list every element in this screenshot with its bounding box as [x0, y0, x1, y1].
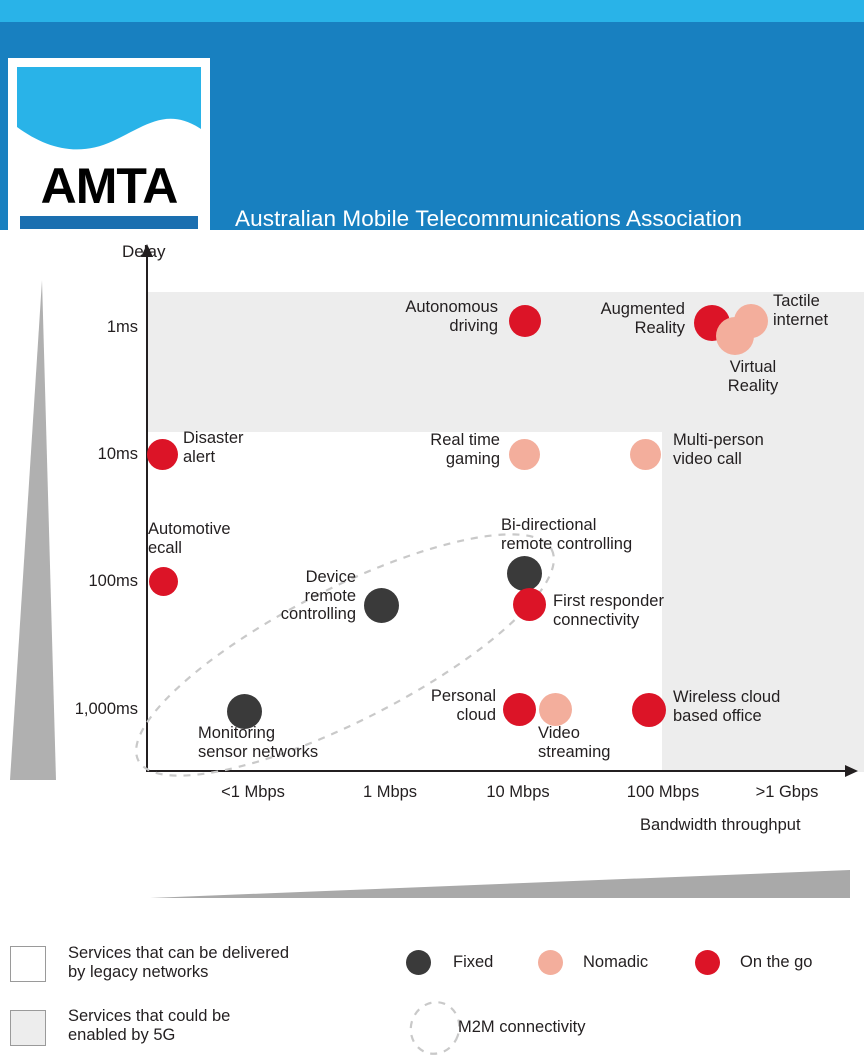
bandwidth-magnitude-wedge — [150, 860, 850, 900]
chart-legend: Services that can be delivered by legacy… — [0, 930, 864, 1050]
point-first-responder-connectivity[interactable] — [513, 588, 546, 621]
amta-logo: AMTA — [8, 58, 210, 244]
point-label-tactile-internet: Tactile internet — [773, 292, 828, 329]
point-label-disaster-alert: Disaster alert — [183, 429, 244, 466]
point-automotive-ecall[interactable] — [149, 567, 178, 596]
top-accent-strip — [0, 0, 864, 22]
point-label-real-time-gaming: Real time gaming — [430, 431, 500, 468]
point-label-personal-cloud: Personal cloud — [431, 687, 496, 724]
legend-label-on-the-go: On the go — [740, 953, 812, 972]
legend-label-nomadic: Nomadic — [583, 953, 648, 972]
point-personal-cloud[interactable] — [503, 693, 536, 726]
point-bi-directional-remote-controlling[interactable] — [507, 556, 542, 591]
logo-wordmark: AMTA — [17, 161, 201, 211]
point-video-streaming[interactable] — [539, 693, 572, 726]
point-label-augmented-reality: Augmented Reality — [601, 300, 685, 337]
association-title: Australian Mobile Telecommunications Ass… — [235, 206, 742, 232]
legend-label-legacy: Services that can be delivered by legacy… — [68, 944, 289, 983]
point-label-monitoring-sensor-networks: Monitoring sensor networks — [198, 724, 318, 761]
legend-swatch-legacy — [10, 946, 46, 982]
legend-label-5g: Services that could be enabled by 5G — [68, 1007, 230, 1046]
logo-underbar — [20, 216, 198, 229]
legend-dot-on-the-go — [695, 950, 720, 975]
logo-wave-icon — [17, 67, 201, 167]
legend-dot-nomadic — [538, 950, 563, 975]
legend-swatch-5g — [10, 1010, 46, 1046]
point-label-video-streaming: Video streaming — [538, 724, 610, 761]
site-header: AMTA Australian Mobile Telecommunication… — [0, 22, 864, 230]
point-label-multi-person-video-call: Multi-person video call — [673, 431, 764, 468]
legend-label-fixed: Fixed — [453, 953, 493, 972]
delay-magnitude-wedge — [0, 280, 60, 780]
point-label-device-remote-controlling: Device remote controlling — [281, 568, 356, 624]
point-autonomous-driving[interactable] — [509, 305, 541, 337]
delay-bandwidth-scatter-chart: Delay Bandwidth throughput 1ms 10ms 100m… — [0, 230, 864, 830]
point-wireless-cloud-based-office[interactable] — [632, 693, 666, 727]
point-label-first-responder-connectivity: First responder connectivity — [553, 592, 664, 629]
point-multi-person-video-call[interactable] — [630, 439, 661, 470]
legend-label-m2m: M2M connectivity — [458, 1018, 585, 1037]
point-device-remote-controlling[interactable] — [364, 588, 399, 623]
point-real-time-gaming[interactable] — [509, 439, 540, 470]
legend-dot-fixed — [406, 950, 431, 975]
point-label-virtual-reality: Virtual Reality — [728, 358, 778, 395]
point-tactile-internet[interactable] — [734, 304, 768, 338]
point-label-autonomous-driving: Autonomous driving — [405, 298, 498, 335]
point-label-wireless-cloud-based-office: Wireless cloud based office — [673, 688, 780, 725]
point-label-automotive-ecall: Automotive ecall — [148, 520, 231, 557]
point-label-bi-directional-remote-controlling: Bi-directional remote controlling — [501, 516, 632, 553]
point-disaster-alert[interactable] — [147, 439, 178, 470]
